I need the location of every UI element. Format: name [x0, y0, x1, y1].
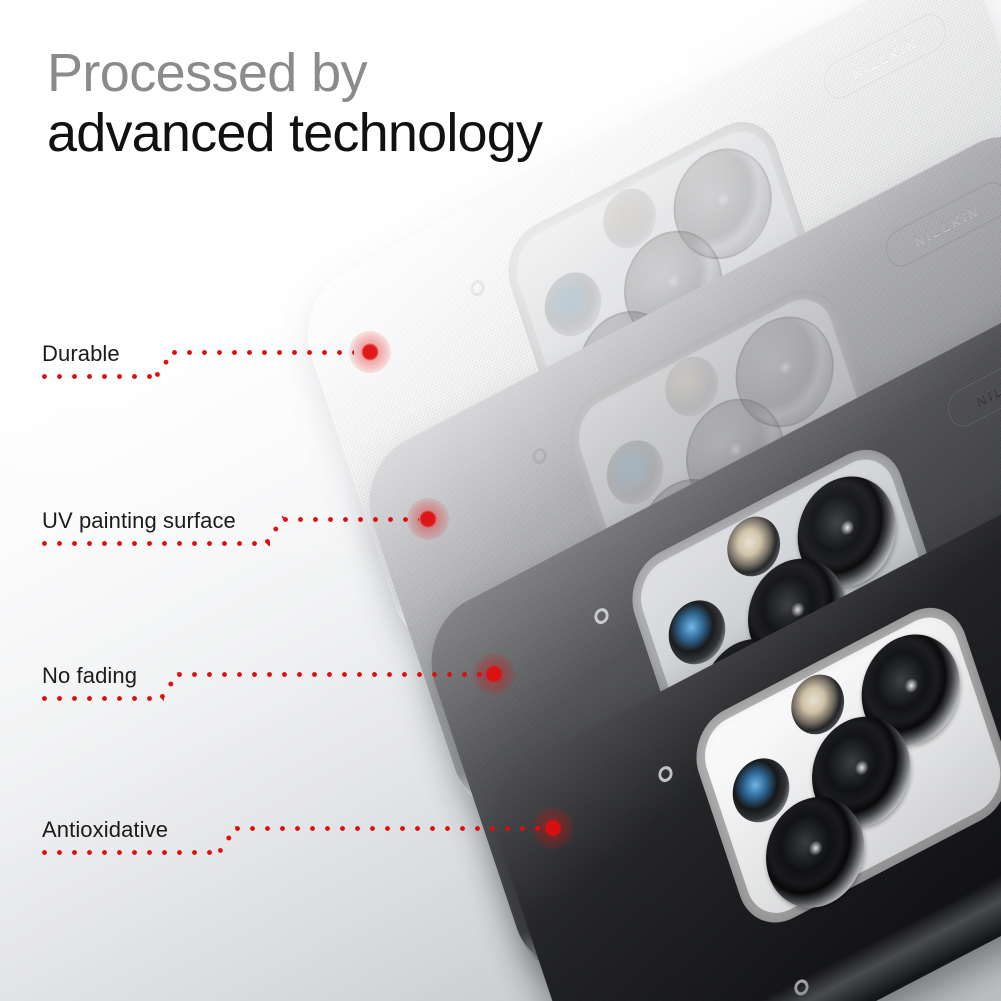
nillkin-logo-emboss: NILLKIN [820, 8, 950, 104]
callout-label: Durable [42, 341, 120, 367]
camera-flash [596, 179, 664, 259]
lens-highlight [776, 357, 794, 377]
lens-highlight [664, 272, 682, 292]
microphone-cutout [530, 445, 548, 466]
lens-highlight [806, 838, 824, 858]
microphone-cutout [792, 977, 810, 998]
case-edge-bevel [583, 742, 1001, 1001]
microphone-cutout [468, 277, 486, 298]
camera-flash [720, 507, 788, 587]
callout-leader-line [283, 517, 419, 522]
callout-marker [532, 807, 574, 849]
callout-underline [42, 541, 270, 546]
callout-label: Antioxidative [42, 817, 168, 843]
callout-marker [473, 653, 515, 695]
camera-depth-sensor [537, 262, 609, 347]
camera-lens-tele [752, 778, 878, 926]
callout-leader-line [177, 672, 485, 677]
callout-marker [349, 331, 391, 373]
callout-leader-line [235, 826, 543, 831]
nillkin-logo-emboss: NILLKIN [944, 336, 1001, 432]
callout-label: No fading [42, 663, 137, 689]
camera-depth-sensor [725, 748, 797, 833]
callout-underline [42, 850, 222, 855]
callout-underline [42, 696, 164, 701]
camera-lens-wide [798, 698, 924, 846]
camera-flash [784, 665, 852, 745]
lens-highlight [714, 189, 732, 209]
callout-leader-line [172, 350, 354, 355]
camera-lens-main [848, 616, 974, 764]
callout-underline [42, 374, 159, 379]
microphone-cutout [592, 605, 610, 626]
product-feature-image: Processed by advanced technology NILLKIN [0, 0, 1001, 1001]
camera-flash [658, 347, 726, 427]
callout-marker [407, 498, 449, 540]
callout-label: UV painting surface [42, 508, 236, 534]
lens-highlight [838, 517, 856, 537]
microphone-cutout [656, 763, 674, 784]
lens-highlight [852, 758, 870, 778]
nillkin-logo-emboss: NILLKIN [882, 176, 1001, 272]
lens-highlight [902, 675, 920, 695]
